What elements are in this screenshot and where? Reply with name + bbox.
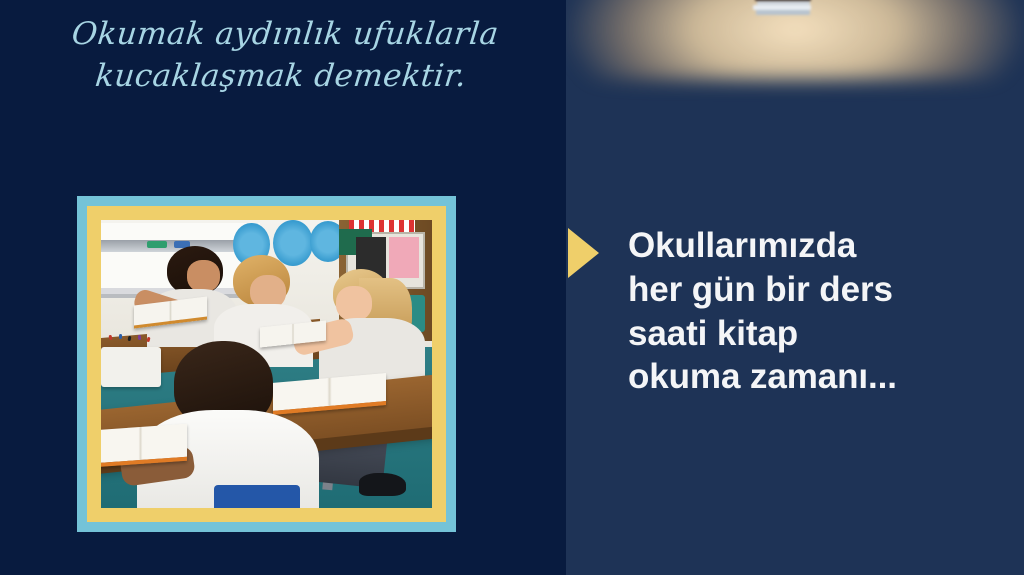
pen	[119, 334, 122, 339]
pen-holder	[101, 347, 161, 387]
photo-frame-outer	[77, 196, 456, 532]
open-book	[101, 424, 187, 468]
script-quote-text: Okumak aydınlık ufuklarla kucaklaşmak de…	[0, 14, 570, 98]
foreground-student-chair	[214, 485, 300, 508]
left-panel: Okumak aydınlık ufuklarla kucaklaşmak de…	[0, 0, 566, 575]
pen	[138, 334, 141, 339]
presentation-slide: Okumak aydınlık ufuklarla kucaklaşmak de…	[0, 0, 1024, 575]
student-shoe	[359, 473, 405, 496]
shelf-paper-pink	[389, 237, 419, 277]
marker-green	[147, 241, 167, 247]
book-stack-image	[755, 0, 811, 22]
student-dark-hair-face	[187, 260, 220, 292]
classroom-photo	[101, 220, 432, 508]
student-blonde-girl-face	[336, 286, 372, 321]
headline-text: Okullarımızda her gün bir ders saati kit…	[628, 224, 1008, 399]
paper-snowflake	[273, 220, 313, 266]
photo-frame-inner	[87, 206, 446, 522]
gold-arrow-marker	[568, 228, 599, 278]
book-layer	[756, 10, 810, 15]
